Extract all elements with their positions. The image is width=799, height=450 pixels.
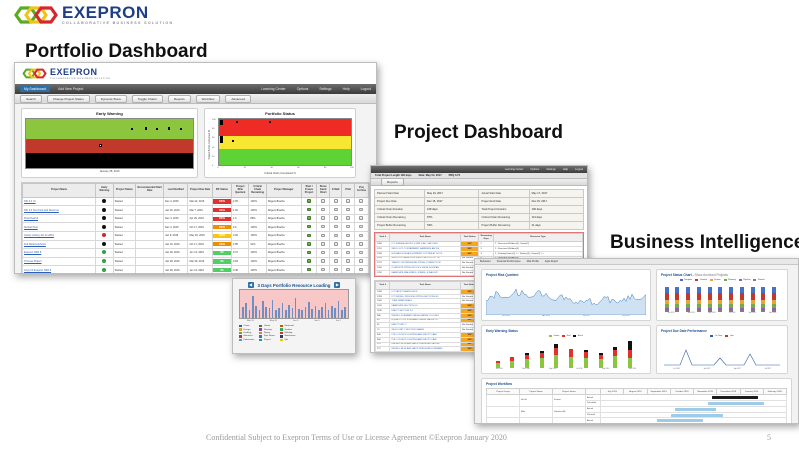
table-row[interactable]: Full MetamorphosisStartedJan 19, 2016Oct… [23,240,369,249]
info-label: Critical Chain Remaining [375,214,425,222]
prev-arrow-icon[interactable]: ◀ [248,282,254,288]
legend-label: Drafting [244,332,252,334]
portfolio-navbar: My Dashboard Add New Project Learning Ce… [15,84,376,94]
legend-swatch [280,339,283,341]
table-row[interactable]: Final Test/v3StartedDec 3, 2015Apr 20, 2… [23,214,369,223]
print-icon[interactable] [346,259,350,262]
project-tab-reports[interactable]: Reports [381,178,404,186]
toolbar-button-toggle-charts[interactable]: Toggle Charts [132,95,163,103]
legend-item: Template [680,279,693,281]
task-name-link[interactable]: ICT PACKT HEADS DECK [391,291,417,293]
toolbar-button-search[interactable]: Search [20,95,42,103]
cell-recommended-start-date [136,240,164,249]
info-label: Project Buffer Remaining [375,222,425,230]
gantt-chart-icon[interactable] [321,199,325,202]
task-name-link[interactable]: FABRICATE WALKWAYS, STAIRS, & WALKUP [391,272,437,274]
portfolio-status-plot: 100806040200 [218,118,352,166]
resource-load-bar [325,303,327,318]
early-xtick: Mar 2016 [522,368,529,370]
cell-print-icon [342,240,355,249]
gantt-chart-icon[interactable] [321,208,325,211]
project-name-link[interactable]: Copy Of Exepron SSR 8 [24,269,51,272]
bi-charts-row-1: Project Risk Quotient Jan 2015Apr 2015Ju… [475,265,798,321]
buffer-status-badge: 100% [213,225,231,229]
table-row[interactable]: Exepron SSR 8StartedJan 28, 2016Jun 13, … [23,249,369,258]
project-dashboard-title: Project Dashboard [394,122,563,144]
cell-print-icon [342,197,355,206]
cell-project-name: SSI 2.0 Test Cost and Revenue [23,206,96,215]
start-project-icon[interactable] [307,199,311,202]
resource-load-bar [301,310,303,318]
ps-xtick: 40 [270,167,272,169]
cell-gantt-chart-icon [317,240,330,249]
early-warning-status-dot [102,233,106,237]
start-project-icon[interactable] [307,268,311,271]
early-warning-status-dot [102,208,106,212]
cell-critical-chain-remaining: 86% [249,214,266,223]
ew-data-point [103,160,105,162]
buffer-status-badge: 100% [213,242,231,246]
workflow-body: Hi-LiftFrozenActualScheduleBlitzPipeline… [487,395,787,424]
project-table-header-cell: Critical Chain Remaining [249,184,266,198]
info-label: Actual Start Date [479,190,529,198]
early-warning-card: Early Warning January 28, 2016 [21,108,198,178]
project-table-header-cell: Project Risk Quotient [232,184,249,198]
gantt-chart-icon[interactable] [321,242,325,245]
legend-label: Tankers [284,329,292,331]
pj-nav-help[interactable]: Help [563,168,568,171]
archive-icon[interactable] [359,234,363,237]
due-xtick: Oct 2016 [673,368,680,370]
footer-page-number: 5 [767,433,771,442]
nav-tab-my-dashboard[interactable]: My Dashboard [20,86,50,92]
cell-project-manager: Rogers Bracha [266,266,301,274]
project-name-link[interactable]: SSI 2.0 v3 [24,200,36,203]
info-value: 190 days [529,206,583,214]
bi-tab[interactable]: Agile Report [545,260,558,263]
legend-label: Design [244,329,251,331]
ew-data-point [34,160,36,162]
info-row: Critical Chain Remaining87%Critical Chai… [375,214,584,222]
exepron-logo: EXEPRON COLLABORATIVE BUSINESS SOLUTION [12,4,173,26]
bar-segment [525,359,529,368]
task-name-link[interactable]: ERECT SECTION 4.6 [391,310,412,312]
bar-segment [584,358,588,369]
info-value: 113 days [529,214,583,222]
cell-early-warning [96,240,113,249]
resource-load-bar [288,305,290,318]
cell-print-icon [342,223,355,232]
portfolio-status-wrap: Project Buffer Consumed % 100806040200 0… [208,118,352,171]
toolbar-button-change-project-status[interactable]: Change Project Status [47,95,90,103]
workflow-gantt-table[interactable]: Project GroupProject NameProject StatusJ… [486,388,787,424]
ps-ytick: 40 [212,147,214,149]
bar-segment [686,310,690,312]
table-row[interactable]: SSI 2.0 Test Cost and RevenueStartedJan … [23,206,369,215]
cell-email-icon [329,249,342,258]
task-name: INSTALL FWD & AFT FLARE MODULE VALV [390,352,460,353]
early-stacked-bar [628,341,632,369]
due-chart-plot [661,338,783,368]
pj-nav-options[interactable]: Options [530,168,539,171]
bar-segment [675,293,679,301]
archive-icon[interactable] [359,268,363,271]
ew-band-red [26,139,193,154]
project-name-link[interactable]: Exepron SSR 8 [24,251,41,254]
portfolio-status-card: Portfolio Status Project Buffer Consumed… [204,108,356,178]
status-stacked-bar [772,287,776,313]
cell-project-manager: Rogers Bracha [266,197,301,206]
risk-chart-plot [486,279,646,315]
project-table-header-cell: Show Gantt Chart [317,184,330,198]
bar-segment [740,293,744,301]
table-row[interactable]: Gantry testing Jan 11 2016StartedJan 8, … [23,232,369,241]
project-name-link[interactable]: Final Test/v3 [24,217,38,220]
legend-item: Pipe Fitters [259,335,275,337]
task-name-link[interactable]: EQUAL FIT UP FORWARD FRESH WATER CO [391,319,438,321]
legend-swatch [239,339,242,341]
print-icon[interactable] [346,234,350,237]
gantt-bar [675,408,716,411]
status-xtick: Mar 2015 [688,312,695,314]
resource-load-bar [285,310,287,318]
ps-xtick: 60 [297,167,299,169]
cell-project-manager: Rogers Bracha [266,257,301,266]
legend-item: Welding [280,332,296,334]
email-icon[interactable] [334,251,338,254]
legend-item: Structural [280,325,296,327]
nav-link-add-new-project[interactable]: Add New Project [58,87,83,91]
project-table-header-row: Project NameEarly WarningProject StatusR… [23,184,369,198]
pj-nav-logout[interactable]: Logout [575,168,583,171]
task-name-link[interactable]: ICT INSTALL PROCESS PIPING SECTIONS 05 [391,296,438,298]
task-name-link[interactable]: HYDRAULIC/ESA EQUIPMENT SYSTEM AT DOCK [391,253,442,255]
start-project-icon[interactable] [307,225,311,228]
task-name-link[interactable]: TUBE DRAW SMALL [391,300,412,302]
bi-tab[interactable]: Risk Profile [527,260,539,263]
bar-segment [708,310,712,312]
cell-last-modified: Jan 20, 2016 [164,206,188,215]
project-info-body: Planned Start DateMay 19, 2017Actual Sta… [375,190,584,230]
legend-item: Planning [724,279,736,281]
info-label: Planned Start Date [375,190,425,198]
legend-label: Pipe Fitters [264,335,275,337]
start-project-icon[interactable] [307,208,311,211]
cell-early-warning [96,214,113,223]
task-name-link[interactable]: WELD OUT CONTAINMENT BARRIERS ABOVE [391,248,439,250]
print-icon[interactable] [346,225,350,228]
ps-band-yellow [219,136,351,150]
status-xtick: Jan 2015 [668,312,675,314]
legend-swatch [280,332,283,334]
bar-segment [772,310,776,312]
email-icon[interactable] [334,268,338,271]
project-name-link[interactable]: Full Metamorphosis [24,243,46,246]
project-table-header-cell: Early Warning [96,184,113,198]
status-stacked-bar [761,287,765,313]
task-table-header-row: Task #Task NameTask StatusRemaining Days… [376,234,583,242]
resource-load-bar [338,301,340,318]
business-intelligence-screenshot: BehaviourFinancial PerformanceRisk Profi… [474,258,799,424]
email-icon[interactable] [334,208,338,211]
cell-email-icon [329,266,342,274]
ps-data-point [220,141,222,143]
workflow-project-group [487,418,520,424]
info-value: 108 days [425,206,479,214]
legend-label: Piping [264,332,270,334]
project-table-header-cell: Bfr Status [212,184,231,198]
cell-email-icon [329,257,342,266]
task-name-link[interactable]: ICT SUBSEA LAYOUT & WELD ALL SEE DWG [391,243,437,245]
nav-link-learning-center[interactable]: Learning Center [261,87,285,91]
archive-icon[interactable] [359,251,363,254]
archive-icon[interactable] [359,242,363,245]
bi-tab[interactable]: Behaviour [480,260,491,263]
cell-project-risk-quotient: 2.85 [232,240,249,249]
task-name-link[interactable]: ERECT UNIT 2 [391,324,406,326]
cell-project-name: Gantry testing Jan 11 2016 [23,232,96,241]
gantt-chart-icon[interactable] [321,268,325,271]
email-icon[interactable] [334,259,338,262]
gantt-chart-icon[interactable] [321,225,325,228]
project-table-body: SSI 2.0 v3StartedDec 3, 2015Mar 22, 2016… [23,197,369,274]
legend-swatch [259,328,262,330]
project-table-header-cell: Start / Freeze Project [301,184,317,198]
resource-load-bar [249,310,251,318]
pj-nav-learning-center[interactable]: Learning Center [505,168,524,171]
cell-project-due-date: Jun 13, 2016 [188,266,212,274]
email-icon[interactable] [334,216,338,219]
early-stacked-bar [569,349,573,368]
cell-project-risk-quotient: 0.38 [232,266,249,274]
print-icon[interactable] [346,199,350,202]
footer-text: Confidential Subject to Exepron Terms of… [206,433,507,442]
project-name-link[interactable]: Thomas Project [24,260,42,263]
portfolio-status-title: Portfolio Status [208,111,352,116]
gantt-chart-icon[interactable] [321,216,325,219]
buffer-status-badge: 0% [213,259,231,263]
start-project-icon[interactable] [307,259,311,262]
bar-segment [510,361,514,369]
gantt-chart-icon[interactable] [321,259,325,262]
buffer-status-badge: 0% [213,268,231,272]
legend-label: Green [554,335,560,337]
legend-swatch [280,325,283,327]
status-stacked-bar [718,287,722,313]
portfolio-project-table[interactable]: Project NameEarly WarningProject StatusR… [21,182,370,274]
resource-loading-plot [239,289,349,319]
task-name-link[interactable]: FABRICATE SECTION 3.6 [391,305,417,307]
early-stacked-bar [599,353,603,368]
status-stacked-bar [697,287,701,313]
project-name-link[interactable]: Gantry testing Jan 11 2016 [24,234,54,237]
archive-icon[interactable] [359,208,363,211]
cell-project-risk-quotient: 2.05 [232,197,249,206]
risk-xtick: Apr 2015 [542,315,550,317]
cell-gantt-chart-icon [317,266,330,274]
info-label: Critical Chain Remaining [479,214,529,222]
cell-print-icon [342,206,355,215]
gantt-chart-icon[interactable] [321,234,325,237]
cell-critical-chain-remaining: 91% [249,240,266,249]
nav-link-help[interactable]: Help [343,87,350,91]
resource-loading-title: 3 Days Portfolio Resource Loading [258,283,331,288]
info-row: Planned Start DateMay 19, 2017Actual Sta… [375,190,584,198]
cell-buffer-status: 100% [212,240,231,249]
early-warning-status-dot [102,250,106,254]
cell-early-warning [96,266,113,274]
start-project-icon[interactable] [307,242,311,245]
task-header-cell: Task # [376,281,390,289]
status-xtick: Nov 2015 [769,312,776,314]
task-name-link[interactable]: WELD UNIT 2 SECTION SEAMS [391,329,423,331]
cell-gantt-chart-icon [317,249,330,258]
next-arrow-icon[interactable]: ▶ [334,282,340,288]
legend-item: Tankers [280,328,296,330]
ps-ytick: 60 [212,137,214,139]
legend-item: Piping [259,332,275,334]
toolbar-button-dynamic-buca[interactable]: Dynamic Buca [95,95,127,103]
legend-label: Created [700,279,707,281]
resource-load-bar [331,306,333,318]
bi-tab[interactable]: Financial Performance [497,260,521,263]
task-name-link[interactable]: INSTALL MLVE AND BACK PRESSURE FORWARD [391,348,442,350]
workflow-project-group [487,406,520,418]
cell-project-due-date: Mar 22, 2016 [188,197,212,206]
portfolio-status-xlabel: Critical Chain Completed % [208,172,352,175]
toolbar-button-advanced[interactable]: Advanced [225,95,251,103]
early-xtick: Sep 2016 [602,368,609,370]
table-row[interactable]: SSI 2.0 v3StartedDec 3, 2015Mar 22, 2016… [23,197,369,206]
bar-segment [761,310,765,312]
nav-link-settings[interactable]: Settings [319,87,331,91]
risk-chart-title: Project Risk Quotient [486,273,646,277]
info-label: Critical Chain Duration [375,206,425,214]
buffer-status-badge: 100% [213,217,231,221]
portfolio-status-ylabel: Project Buffer Consumed % [208,130,211,159]
cell-gantt-chart-icon [317,206,330,215]
legend-item: Drafting [239,332,254,334]
project-name-link[interactable]: SSI 2.0 Test Cost and Revenue [24,209,59,212]
cell-archive-icon [354,240,368,249]
resource-load-bar [265,307,267,318]
gantt-chart-icon[interactable] [321,251,325,254]
start-project-icon[interactable] [307,216,311,219]
nav-link-logout[interactable]: Logout [361,87,371,91]
toolbar-button-reports[interactable]: Reports [168,95,191,103]
resource-load-bar [269,308,271,318]
buffer-status-badge: 100% [213,199,231,203]
due-chart-legend: On TimeLate [661,335,783,337]
ew-data-point [99,144,101,146]
print-icon[interactable] [346,208,350,211]
status-chart-subtitle: Show Archived Projects [694,273,727,277]
resource-load-xtick: Jun 7 [336,320,341,322]
workflow-project-status: Frozen [553,395,586,407]
cell-archive-icon [354,266,368,274]
archive-icon[interactable] [359,199,363,202]
task-name-link[interactable]: PULL 01 DECK LIGHTING AND RECPT CABL [391,334,436,336]
email-icon[interactable] [334,199,338,202]
legend-swatch [549,335,552,337]
cell-last-modified: Jan 28, 2016 [164,266,188,274]
table-row[interactable]: Thomas ProjectStartedJan 28, 2016Mar 30,… [23,257,369,266]
archive-icon[interactable] [359,216,363,219]
cell-buffer-status: 100% [212,214,231,223]
task-name-link[interactable]: PULL 02 DECK LIGHTING AND RECPT CABL [391,339,436,341]
cell-gantt-chart-icon [317,223,330,232]
email-icon[interactable] [334,225,338,228]
early-stacked-bar [584,350,588,368]
toolbar-button-workflow[interactable]: Workflow [196,95,221,103]
start-project-icon[interactable] [307,251,311,254]
early-stacked-bar [554,344,558,368]
legend-label: Red [567,335,571,337]
pj-nav-settings[interactable]: Settings [546,168,555,171]
resource-load-bar [278,308,280,318]
task-name-link[interactable]: TRACE LOW PRESSURE PIPING CONNECTION [391,262,440,264]
print-icon[interactable] [346,242,350,245]
legend-item: Painting [259,328,275,330]
start-project-icon[interactable] [307,234,311,237]
nav-link-options[interactable]: Options [297,87,309,91]
legend-swatch [259,335,262,337]
info-value: 87% [425,214,479,222]
archive-icon[interactable] [359,259,363,262]
task-header-cell: Task Name [390,281,460,289]
print-icon[interactable] [346,268,350,271]
status-stacked-bar [675,287,679,313]
info-row: Project Buffer Remaining53%Project Buffe… [375,222,584,230]
task-name-link[interactable]: INSTALL MLVE AND BACK PRESSURE VALVES [391,343,439,345]
task-name-link[interactable]: COMPLETE PIPING SPOOLS FROM ISO/SPAN [391,267,439,269]
print-icon[interactable] [346,251,350,254]
legend-swatch [239,335,242,337]
archive-icon[interactable] [359,225,363,228]
email-icon[interactable] [334,234,338,237]
legend-swatch [239,328,242,330]
bar-segment [708,293,712,301]
task-name-link[interactable]: INSTALL FORWARD FRESH WATER COOLING [391,315,438,317]
task-name-link[interactable]: WELD OUT BASE PIPE WELD CALLOUT LD TR [391,257,439,259]
info-label: Project Buffer Remaining [479,222,529,230]
portfolio-nav-right: Learning Center Options Settings Help Lo… [261,87,371,91]
task-header-cell: Remaining Days [479,234,493,242]
project-name-link[interactable]: Sunbelt Test [24,226,38,229]
info-value: Dec 15, 2017 [425,198,479,206]
project-status-chart-card: Project Status Chart - Show Archived Pro… [656,269,788,321]
table-row[interactable]: Sunbelt TestStartedDec 3, 2015Oct 17, 20… [23,223,369,232]
app-logo-bar: EXEPRON COLLABORATIVE BUSINESS SOLUTION [15,63,376,84]
cell-project-status: Started [113,214,136,223]
project-navbar: Learning Center Options Settings Help Lo… [371,166,587,173]
email-icon[interactable] [334,242,338,245]
cell-start-freeze-project [301,206,317,215]
task-header-cell: Task # [376,234,390,242]
cell-recommended-start-date [136,223,164,232]
legend-label: Warehouse [284,335,295,337]
cell-gantt-chart-icon [317,214,330,223]
resource-load-bar [292,308,294,318]
cell-project-status: Started [113,240,136,249]
info-row: Critical Chain Duration108 daysTotal Pro… [375,206,584,214]
ps-ytick: 0 [212,165,213,167]
table-row[interactable]: Copy Of Exepron SSR 8StartedJan 28, 2016… [23,266,369,274]
print-icon[interactable] [346,216,350,219]
status-chart-title: Project Status Chart - Show Archived Pro… [661,273,783,277]
cell-last-modified: Dec 3, 2015 [164,197,188,206]
legend-swatch [259,325,262,327]
